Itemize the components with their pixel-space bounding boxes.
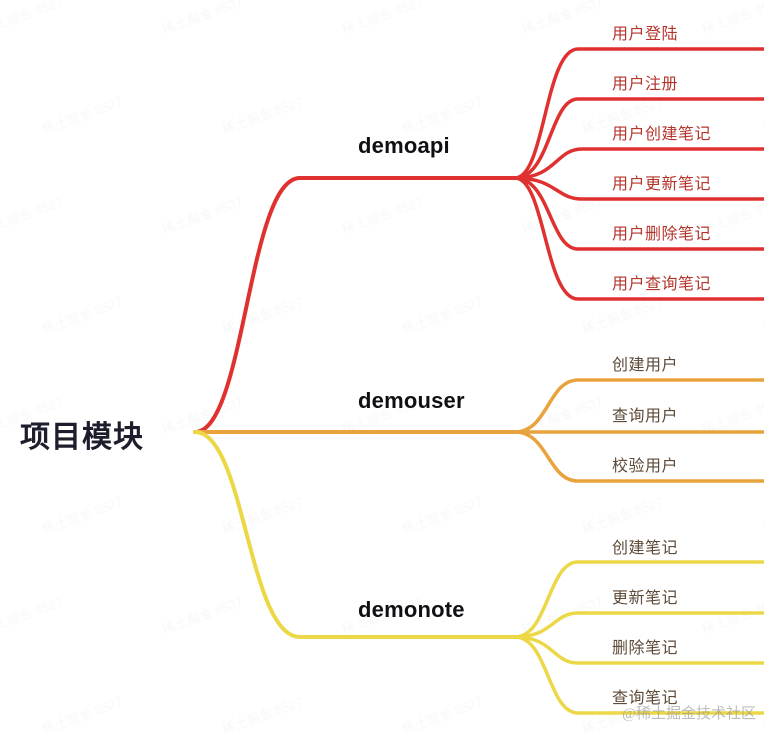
branch-node-demouser[interactable]: demouser [358, 388, 465, 414]
leaf-node-demoapi-6[interactable]: 用户查询笔记 [612, 270, 711, 294]
branch-node-demoapi[interactable]: demoapi [358, 133, 450, 159]
leaf-node-demouser-3[interactable]: 校验用户 [612, 452, 678, 476]
mindmap-canvas: 稀土掘金 8527稀土掘金 8527稀土掘金 8527稀土掘金 8527稀土掘金… [0, 0, 764, 729]
leaf-node-demonote-1[interactable]: 创建笔记 [612, 534, 678, 558]
leaf-node-demoapi-3[interactable]: 用户创建笔记 [612, 120, 711, 144]
corner-watermark: @稀土掘金技术社区 [622, 702, 756, 723]
mindmap-labels: 项目模块 demoapi demouser demonote 用户登陆 用户注册… [0, 0, 764, 729]
leaf-node-demouser-2[interactable]: 查询用户 [612, 402, 678, 426]
leaf-node-demoapi-1[interactable]: 用户登陆 [612, 20, 678, 44]
leaf-node-demoapi-4[interactable]: 用户更新笔记 [612, 170, 711, 194]
leaf-node-demoapi-5[interactable]: 用户删除笔记 [612, 220, 711, 244]
leaf-node-demouser-1[interactable]: 创建用户 [612, 351, 678, 375]
branch-node-demonote[interactable]: demonote [358, 597, 465, 623]
mindmap-root-node[interactable]: 项目模块 [20, 412, 144, 456]
leaf-node-demonote-2[interactable]: 更新笔记 [612, 584, 678, 608]
leaf-node-demoapi-2[interactable]: 用户注册 [612, 70, 678, 94]
leaf-node-demonote-3[interactable]: 删除笔记 [612, 634, 678, 658]
